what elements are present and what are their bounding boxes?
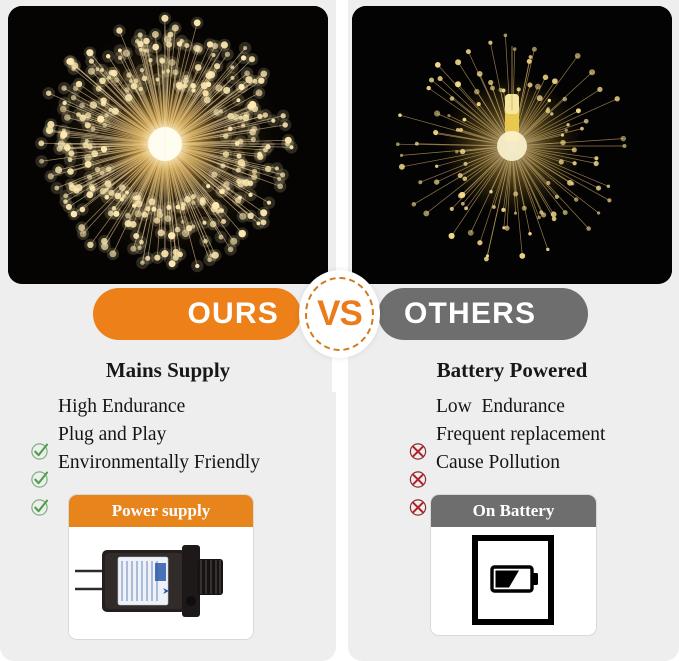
others-label: OTHERS [404, 297, 536, 331]
feature-label: Cause Pollution [436, 452, 560, 474]
cross-circle-icon [408, 453, 428, 473]
product-card-body [69, 527, 253, 639]
comparison-infographic: OURS OTHERS VS Mains Supply Battery Powe… [0, 0, 679, 661]
others-pill: OTHERS [378, 288, 588, 340]
product-card-caption: On Battery [431, 495, 596, 527]
check-circle-icon [30, 453, 50, 473]
vs-badge: VS [299, 270, 380, 358]
vs-label: VS [317, 294, 362, 334]
check-circle-icon [30, 397, 50, 417]
heading-mains-supply: Mains Supply [8, 358, 328, 383]
feature-label: Plug and Play [58, 424, 166, 446]
ours-label: OURS [188, 297, 279, 331]
firework-led-light-bright-icon [8, 6, 328, 284]
feature-label: Low Endurance [436, 396, 565, 418]
feature-label: High Endurance [58, 396, 185, 418]
hero-image-others [352, 6, 672, 284]
product-card-body [431, 527, 596, 635]
feature-label: Frequent replacement [436, 424, 605, 446]
product-card-on-battery: On Battery [430, 494, 597, 636]
heading-battery-powered: Battery Powered [352, 358, 672, 383]
hero-image-ours [8, 6, 328, 284]
feature-list-ours: High Endurance Plug and Play Environment… [30, 394, 260, 478]
cross-circle-icon [408, 425, 428, 445]
product-card-caption: Power supply [69, 495, 253, 527]
list-item: Low Endurance [408, 394, 605, 420]
product-card-power-supply: Power supply [68, 494, 254, 640]
feature-label: Environmentally Friendly [58, 452, 260, 474]
power-adapter-icon [69, 527, 251, 637]
ours-pill: OURS [93, 288, 301, 340]
cross-circle-icon [408, 397, 428, 417]
low-battery-icon [431, 527, 594, 633]
feature-list-others: Low Endurance Frequent replacement Cause… [408, 394, 605, 478]
list-item: High Endurance [30, 394, 260, 420]
check-circle-icon [30, 425, 50, 445]
firework-led-light-dim-icon [352, 6, 672, 284]
